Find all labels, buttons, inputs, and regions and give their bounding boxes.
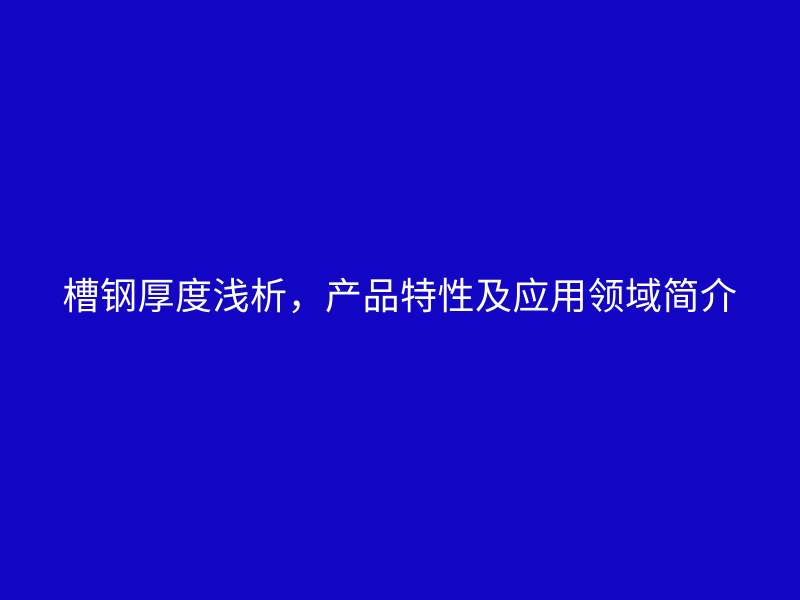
page-title: 槽钢厚度浅析，产品特性及应用领域简介 (40, 275, 760, 319)
headline-block: 槽钢厚度浅析，产品特性及应用领域简介 (0, 275, 800, 319)
title-slide: 槽钢厚度浅析，产品特性及应用领域简介 (0, 0, 800, 600)
